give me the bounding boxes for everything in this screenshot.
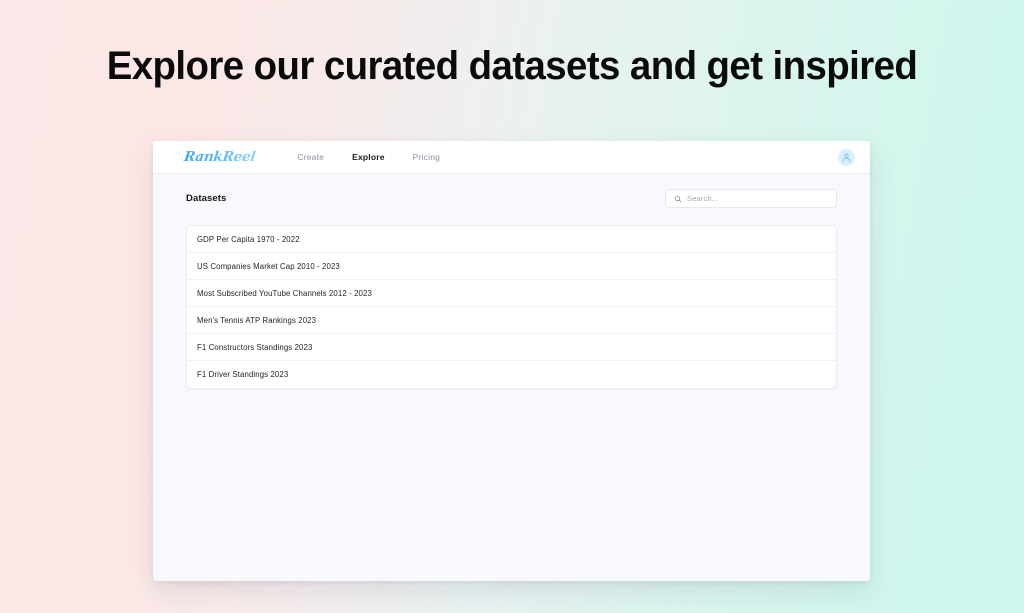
dataset-row[interactable]: US Companies Market Cap 2010 - 2023 — [187, 253, 836, 280]
app-window: RankReel Create Explore Pricing Datasets — [153, 141, 870, 581]
avatar[interactable] — [838, 149, 855, 166]
search-box[interactable] — [665, 189, 837, 208]
search-icon — [674, 195, 682, 203]
dataset-name: GDP Per Capita 1970 - 2022 — [197, 235, 300, 244]
app-content: Datasets GDP Per Capita 1970 - 2022 US C… — [153, 174, 870, 581]
page-title: Explore our curated datasets and get ins… — [20, 44, 1003, 89]
content-header: Datasets — [186, 189, 837, 208]
dataset-name: Men's Tennis ATP Rankings 2023 — [197, 316, 316, 325]
nav-links: Create Explore Pricing — [297, 152, 440, 162]
nav-item-pricing[interactable]: Pricing — [413, 152, 440, 162]
nav-item-explore[interactable]: Explore — [352, 152, 385, 162]
dataset-name: F1 Driver Standings 2023 — [197, 370, 288, 379]
app-navbar: RankReel Create Explore Pricing — [153, 141, 870, 174]
dataset-name: US Companies Market Cap 2010 - 2023 — [197, 262, 340, 271]
dataset-name: F1 Constructors Standings 2023 — [197, 343, 312, 352]
section-title: Datasets — [186, 193, 226, 204]
dataset-row[interactable]: GDP Per Capita 1970 - 2022 — [187, 226, 836, 253]
dataset-row[interactable]: Most Subscribed YouTube Channels 2012 - … — [187, 280, 836, 307]
dataset-row[interactable]: Men's Tennis ATP Rankings 2023 — [187, 307, 836, 334]
dataset-row[interactable]: F1 Constructors Standings 2023 — [187, 334, 836, 361]
brand-logo[interactable]: RankReel — [183, 149, 257, 165]
user-avatar-icon — [841, 152, 852, 163]
dataset-name: Most Subscribed YouTube Channels 2012 - … — [197, 289, 372, 298]
dataset-row[interactable]: F1 Driver Standings 2023 — [187, 361, 836, 388]
dataset-list: GDP Per Capita 1970 - 2022 US Companies … — [186, 225, 837, 389]
search-input[interactable] — [687, 194, 828, 203]
nav-item-create[interactable]: Create — [297, 152, 324, 162]
